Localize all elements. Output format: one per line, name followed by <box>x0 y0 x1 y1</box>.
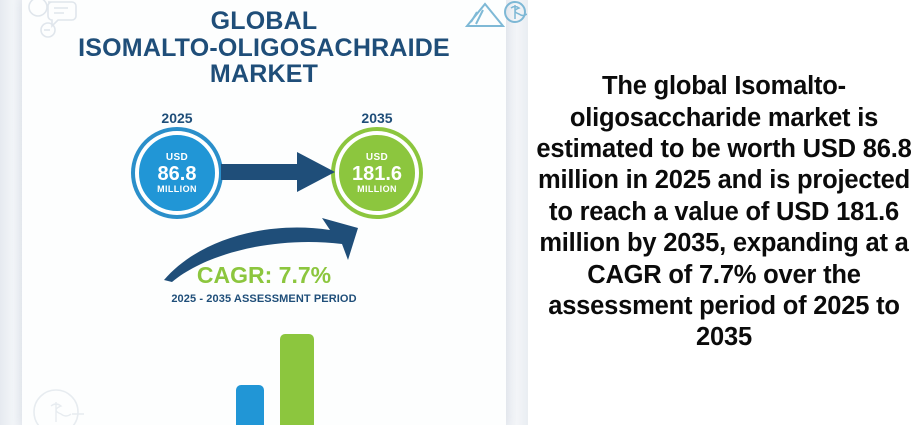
end-value-circle: USD 181.6 MILLION <box>335 131 419 215</box>
title-line-3: MARKET <box>22 61 506 88</box>
summary-paragraph: The global Isomalto-oligosaccharide mark… <box>531 71 917 353</box>
start-unit: MILLION <box>157 185 197 194</box>
end-value-text: USD 181.6 MILLION <box>352 153 402 194</box>
title-line-2: ISOMALTO-OLIGOSACHRAIDE <box>22 35 506 62</box>
title-line-1: GLOBAL <box>22 8 506 35</box>
panel-right-edge <box>506 0 528 425</box>
start-value-circle: USD 86.8 MILLION <box>135 131 219 215</box>
page-title: GLOBAL ISOMALTO-OLIGOSACHRAIDE MARKET <box>22 8 506 88</box>
start-year-label: 2025 <box>132 110 222 126</box>
end-year-label: 2035 <box>332 110 422 126</box>
panel-left-edge <box>0 0 22 425</box>
summary-panel: The global Isomalto-oligosaccharide mark… <box>528 0 920 425</box>
screenshot-root: GLOBAL ISOMALTO-OLIGOSACHRAIDE MARKET 20… <box>0 0 920 425</box>
dollar-circle-icon <box>30 388 96 425</box>
end-currency: USD <box>352 153 402 163</box>
bar-2025 <box>236 385 264 425</box>
infographic-panel: GLOBAL ISOMALTO-OLIGOSACHRAIDE MARKET 20… <box>0 0 528 425</box>
start-currency: USD <box>157 153 197 163</box>
right-arrow-icon <box>221 148 337 196</box>
end-value: 181.6 <box>352 164 402 184</box>
infographic-card: GLOBAL ISOMALTO-OLIGOSACHRAIDE MARKET 20… <box>22 0 506 425</box>
cagr-value: CAGR: 7.7% <box>22 262 506 289</box>
cagr-period-label: 2025 - 2035 ASSESSMENT PERIOD <box>22 293 506 305</box>
end-unit: MILLION <box>352 185 402 194</box>
start-value-text: USD 86.8 MILLION <box>157 153 197 194</box>
start-value: 86.8 <box>157 164 197 184</box>
bar-2035 <box>280 334 314 425</box>
